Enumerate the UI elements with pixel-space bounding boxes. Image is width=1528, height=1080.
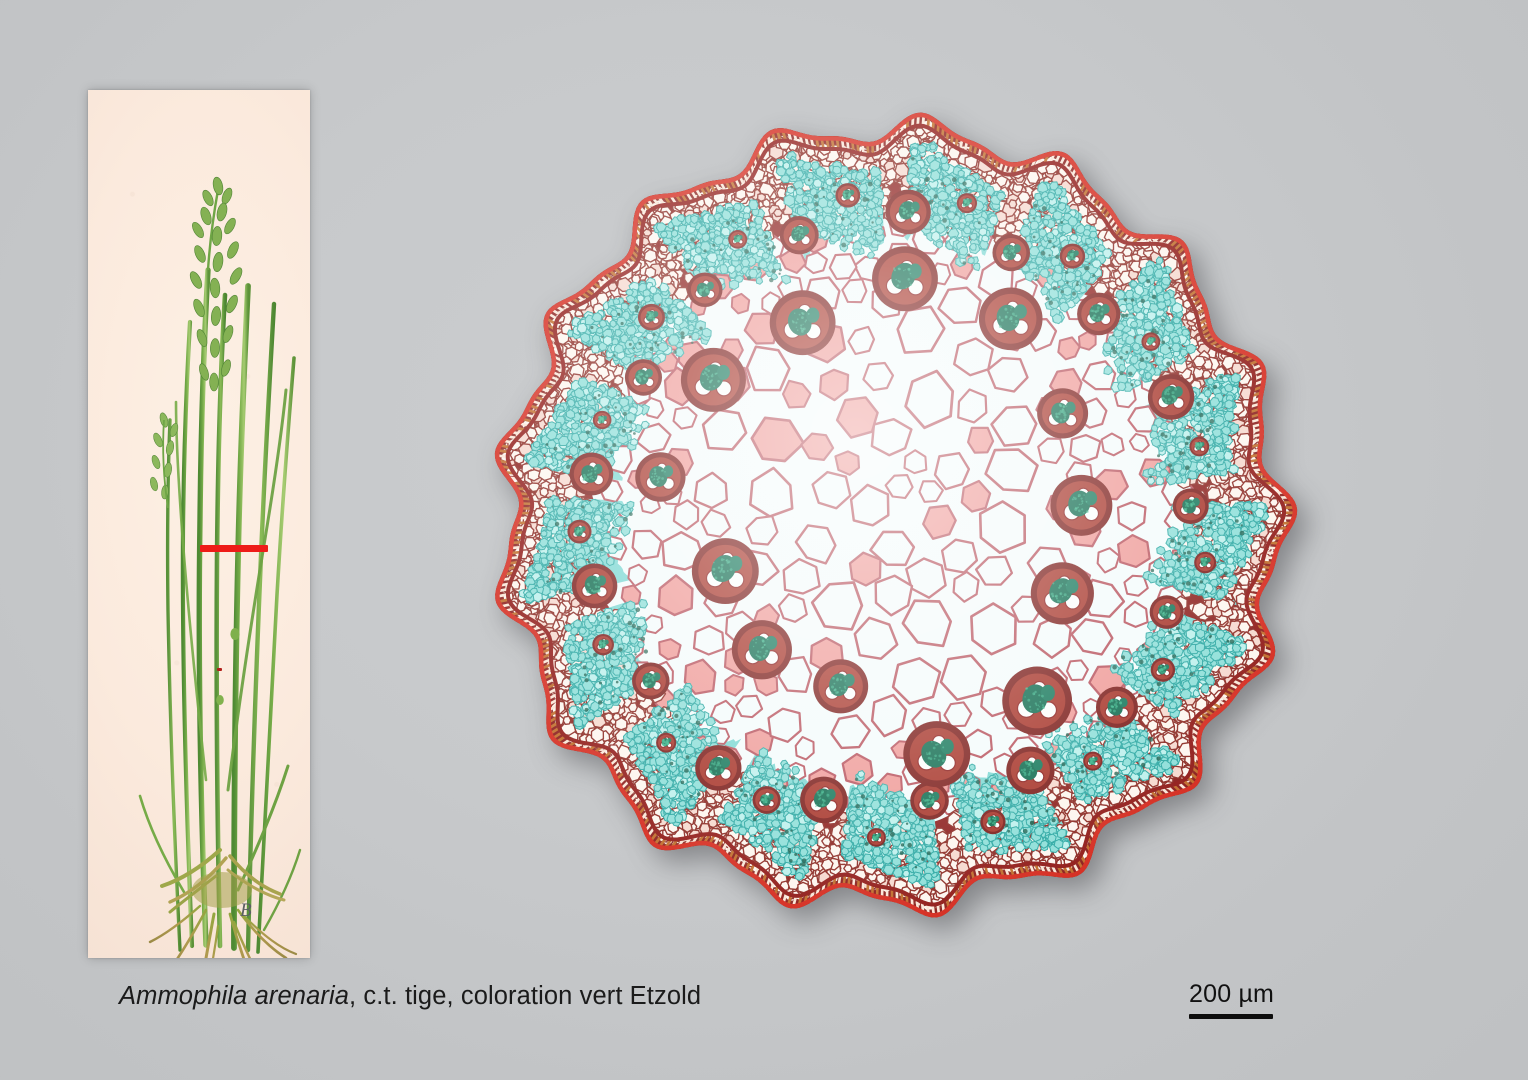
- botanical-illustration-panel: B: [88, 90, 310, 958]
- plate-label-b: B: [240, 900, 252, 922]
- botanical-illustration-svg: [88, 90, 310, 958]
- stem-cross-section-micrograph: [452, 78, 1332, 958]
- micrograph-svg: [452, 78, 1332, 958]
- section-tissues: [495, 113, 1297, 918]
- panicle-inflorescence: [149, 176, 244, 508]
- figure-canvas: B Ammophila arenaria, c.t. tige, colorat…: [0, 0, 1528, 1080]
